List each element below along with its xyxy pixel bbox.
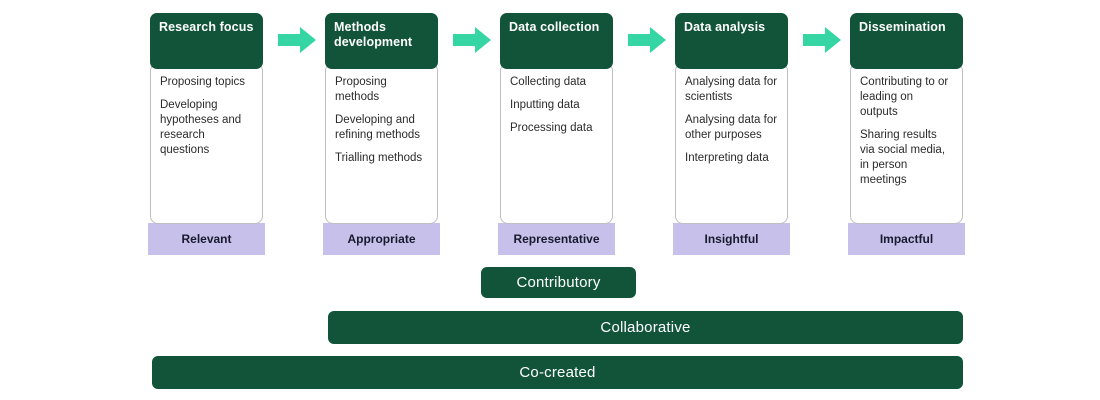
stage-header: Methods development (325, 13, 438, 69)
list-item: Analysing data for scientists (685, 75, 778, 105)
stage-activity-list: Proposing methods Developing and refinin… (325, 63, 438, 224)
stage-header: Data collection (500, 13, 613, 69)
list-item: Trialling methods (335, 151, 428, 166)
stage-quality-label: Insightful (705, 232, 759, 246)
list-item: Interpreting data (685, 151, 778, 166)
stage-title: Data collection (509, 20, 599, 34)
stage-quality-label: Impactful (880, 232, 933, 246)
arrow-right-icon (626, 26, 668, 54)
list-item: Proposing methods (335, 75, 428, 105)
stage-quality-badge: Insightful (673, 223, 790, 255)
stage-column-research-focus[interactable]: Research focus Proposing topics Developi… (150, 13, 263, 255)
stage-quality-badge: Relevant (148, 223, 265, 255)
participation-bar-co-created[interactable]: Co-created (152, 356, 963, 389)
stage-activity-list: Contributing to or leading on outputs Sh… (850, 63, 963, 224)
list-item: Contributing to or leading on outputs (860, 75, 953, 120)
list-item: Sharing results via social media, in per… (860, 128, 953, 188)
stage-header: Research focus (150, 13, 263, 69)
stage-activity-list: Collecting data Inputting data Processin… (500, 63, 613, 224)
stage-title: Research focus (159, 20, 254, 34)
stage-title: Methods development (334, 20, 412, 49)
stage-column-dissemination[interactable]: Dissemination Contributing to or leading… (850, 13, 963, 255)
participation-bar-label: Collaborative (600, 319, 690, 336)
stage-quality-badge: Impactful (848, 223, 965, 255)
stage-quality-label: Appropriate (347, 232, 415, 246)
stage-activity-list: Proposing topics Developing hypotheses a… (150, 63, 263, 224)
participation-bar-contributory[interactable]: Contributory (481, 267, 636, 298)
arrow-right-icon (451, 26, 493, 54)
stage-activity-list: Analysing data for scientists Analysing … (675, 63, 788, 224)
stage-title: Data analysis (684, 20, 765, 34)
stage-column-data-collection[interactable]: Data collection Collecting data Inputtin… (500, 13, 613, 255)
participation-bar-label: Co-created (519, 364, 595, 381)
stage-quality-label: Relevant (181, 232, 231, 246)
list-item: Analysing data for other purposes (685, 113, 778, 143)
list-item: Developing and refining methods (335, 113, 428, 143)
stage-column-data-analysis[interactable]: Data analysis Analysing data for scienti… (675, 13, 788, 255)
list-item: Processing data (510, 121, 603, 136)
arrow-right-icon (276, 26, 318, 54)
participation-bar-collaborative[interactable]: Collaborative (328, 311, 963, 344)
list-item: Developing hypotheses and research quest… (160, 98, 253, 158)
stage-quality-label: Representative (513, 232, 599, 246)
stage-quality-badge: Appropriate (323, 223, 440, 255)
list-item: Collecting data (510, 75, 603, 90)
stage-column-methods-development[interactable]: Methods development Proposing methods De… (325, 13, 438, 255)
list-item: Proposing topics (160, 75, 253, 90)
stage-header: Data analysis (675, 13, 788, 69)
stage-title: Dissemination (859, 20, 946, 34)
participatory-research-framework-diagram: Research focus Proposing topics Developi… (0, 0, 1100, 400)
stage-header: Dissemination (850, 13, 963, 69)
arrow-right-icon (801, 26, 843, 54)
list-item: Inputting data (510, 98, 603, 113)
stage-quality-badge: Representative (498, 223, 615, 255)
participation-bar-label: Contributory (516, 274, 600, 291)
